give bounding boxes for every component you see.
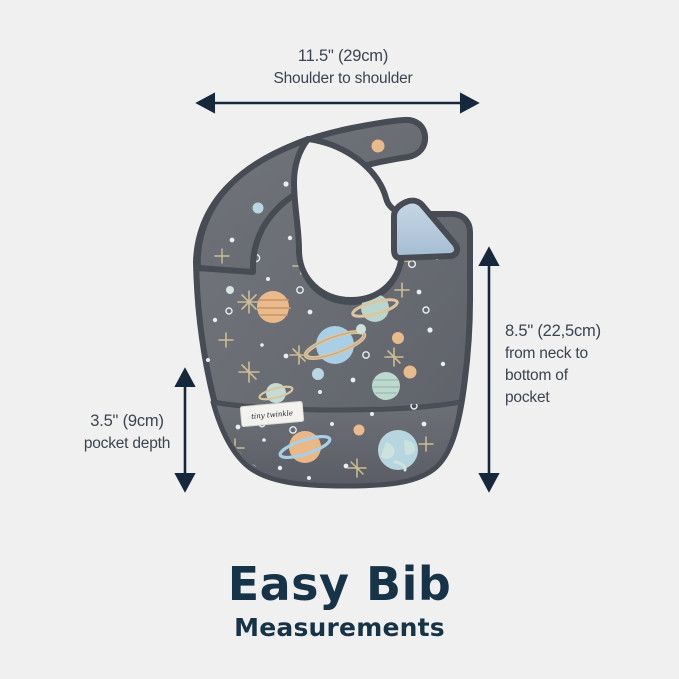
planet-dot bbox=[354, 425, 365, 436]
planet-earth bbox=[378, 430, 418, 470]
measurement-width-value: 11.5" (29cm) bbox=[243, 45, 443, 68]
planet-dot bbox=[404, 366, 417, 379]
measurement-width-description: Shoulder to shoulder bbox=[243, 68, 443, 90]
title-block: Easy Bib Measurements bbox=[0, 558, 679, 644]
planet-dot bbox=[312, 368, 324, 380]
planet-dot bbox=[226, 286, 234, 294]
planet-dot bbox=[356, 324, 366, 334]
measurement-pocket-description: pocket depth bbox=[62, 433, 192, 455]
measurement-height-value: 8.5" (22,5cm) bbox=[505, 320, 675, 343]
planet-striped-green bbox=[372, 372, 400, 400]
measurement-height-description-line2: bottom of bbox=[505, 365, 675, 387]
measurement-label-height: 8.5" (22,5cm) from neck to bottom of poc… bbox=[505, 320, 675, 409]
infographic-canvas: tiny twinkle 11.5" (29cm) Should bbox=[0, 0, 679, 679]
measurement-label-pocket: 3.5" (9cm) pocket depth bbox=[62, 410, 192, 455]
page-title: Easy Bib bbox=[0, 558, 679, 610]
page-subtitle: Measurements bbox=[0, 612, 679, 644]
measurement-label-width: 11.5" (29cm) Shoulder to shoulder bbox=[243, 45, 443, 90]
planet-dot bbox=[392, 332, 404, 344]
artboard: tiny twinkle 11.5" (29cm) Should bbox=[0, 0, 679, 679]
measurement-height-description-line1: from neck to bbox=[505, 343, 675, 365]
measurement-height-description-line3: pocket bbox=[505, 387, 675, 409]
measurement-pocket-value: 3.5" (9cm) bbox=[62, 410, 192, 433]
